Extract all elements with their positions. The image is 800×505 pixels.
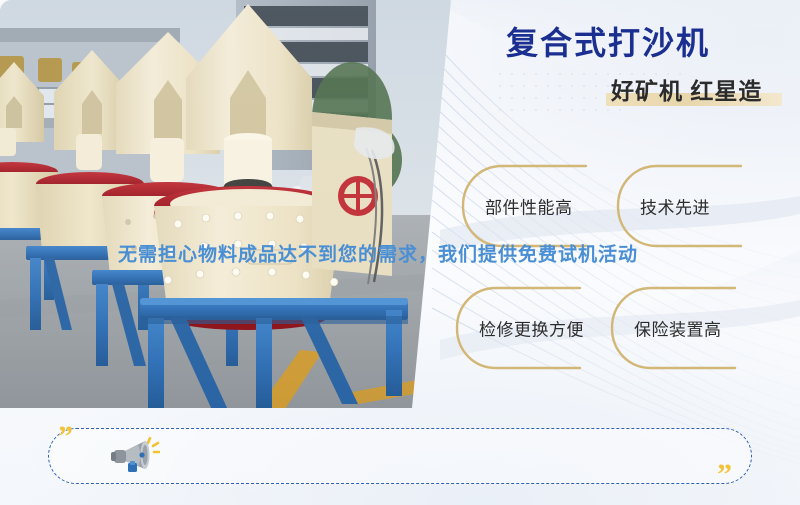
- promo-banner-root: 复合式打沙机 好矿机 红星造 部件性能高 技术先进 检修更换方便 保险装置高 ”…: [0, 0, 800, 505]
- feature-badge-3[interactable]: 保险装置高: [607, 285, 755, 371]
- promo-banner-text: 无需担心物料成品达不到您的需求，我们提供免费试机活动: [118, 239, 638, 266]
- quote-open-mark: ”: [58, 422, 71, 452]
- feature-badge-1-label: 技术先进: [640, 194, 710, 219]
- feature-badge-1[interactable]: 技术先进: [613, 163, 761, 249]
- feature-badge-2-label: 检修更换方便: [479, 316, 584, 341]
- product-photo: [0, 0, 460, 420]
- megaphone-icon: [108, 437, 160, 479]
- subtitle-wrap: 好矿机 红星造: [611, 80, 762, 103]
- feature-badge-3-label: 保险装置高: [634, 316, 722, 341]
- feature-badge-0[interactable]: 部件性能高: [458, 163, 606, 249]
- feature-badge-0-label: 部件性能高: [485, 194, 573, 219]
- page-title: 复合式打沙机: [506, 27, 710, 59]
- product-photo-illustration: [0, 0, 460, 420]
- page-subtitle: 好矿机 红星造: [611, 78, 762, 104]
- quote-close-mark: ”: [717, 460, 730, 490]
- feature-badge-2[interactable]: 检修更换方便: [452, 285, 600, 371]
